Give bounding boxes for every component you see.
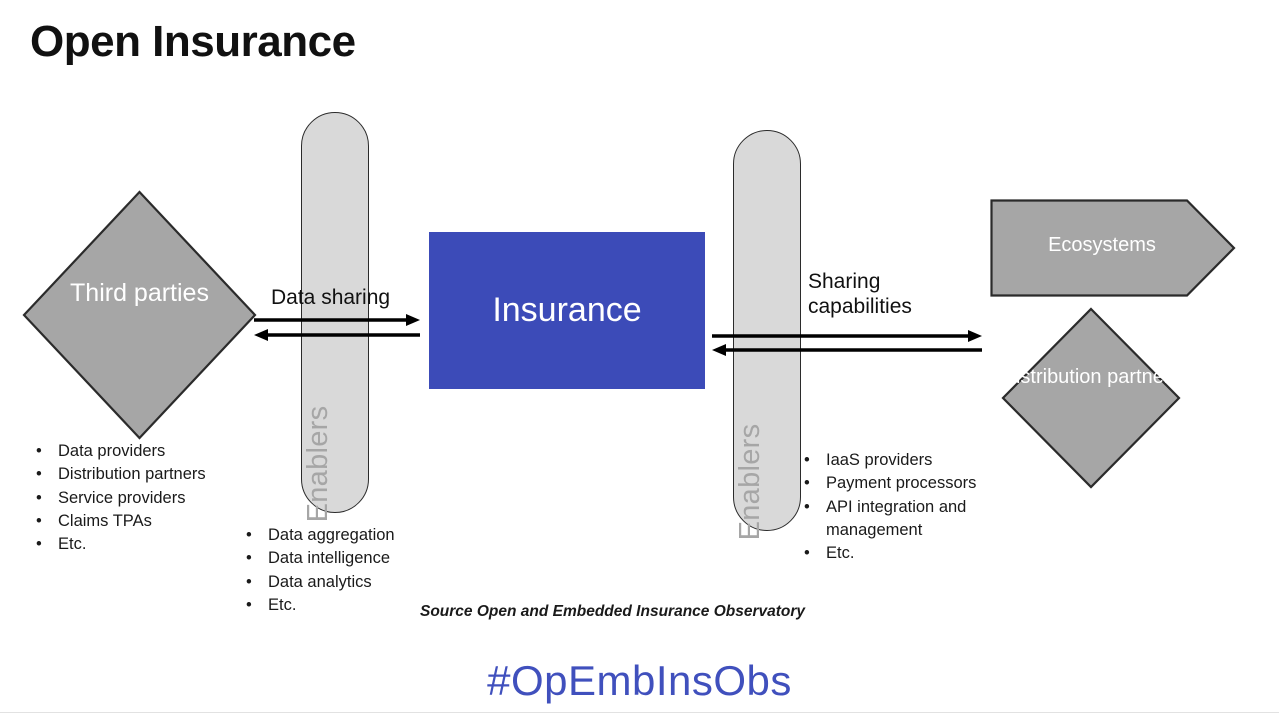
bullet-marker-icon: • <box>30 510 58 533</box>
list-item: • IaaS providers <box>798 449 1013 472</box>
enablers-left-bullet-list: • Data aggregation • Data intelligence •… <box>240 524 450 617</box>
sharing-capabilities-arrows <box>710 329 984 361</box>
list-item-label: Data analytics <box>268 571 450 594</box>
list-item-label: IaaS providers <box>826 449 1013 472</box>
list-item: • Etc. <box>30 533 260 556</box>
bullet-marker-icon: • <box>240 547 268 570</box>
bidirectional-arrow-icon <box>710 329 984 361</box>
bullet-marker-icon: • <box>30 440 58 463</box>
insurance-label: Insurance <box>492 292 641 329</box>
slide-canvas: Open Insurance Third parties Enablers In… <box>0 0 1279 720</box>
list-item: • Payment processors <box>798 472 1013 495</box>
bullet-marker-icon: • <box>240 571 268 594</box>
sharing-capabilities-label: Sharing capabilities <box>808 270 912 320</box>
third-parties-shape[interactable]: Third parties <box>22 190 257 440</box>
pentagon-arrow-icon <box>990 199 1236 297</box>
hashtag-label: #OpEmbInsObs <box>0 657 1279 705</box>
list-item: • Data providers <box>30 440 260 463</box>
third-parties-bullet-list: • Data providers • Distribution partners… <box>30 440 260 556</box>
bullet-marker-icon: • <box>240 594 268 617</box>
bullet-marker-icon: • <box>798 542 826 565</box>
list-item-label: Data intelligence <box>268 547 450 570</box>
insurance-shape[interactable]: Insurance <box>429 232 705 389</box>
list-item-label: Etc. <box>58 533 260 556</box>
enabler-right-label: Enablers <box>734 424 767 541</box>
bottom-divider <box>0 712 1279 713</box>
list-item-label: Payment processors <box>826 472 1013 495</box>
list-item-label: Data providers <box>58 440 260 463</box>
bullet-marker-icon: • <box>30 533 58 556</box>
list-item: • API integration and management <box>798 496 1013 543</box>
diamond-icon <box>22 190 257 440</box>
list-item: • Etc. <box>798 542 1013 565</box>
bullet-marker-icon: • <box>240 524 268 547</box>
bullet-marker-icon: • <box>798 449 826 472</box>
list-item: • Data aggregation <box>240 524 450 547</box>
list-item: • Service providers <box>30 487 260 510</box>
list-item-label: API integration and management <box>826 496 1013 543</box>
list-item-label: Claims TPAs <box>58 510 260 533</box>
bullet-marker-icon: • <box>30 487 58 510</box>
diamond-icon <box>1001 307 1181 489</box>
list-item-label: Distribution partners <box>58 463 260 486</box>
list-item: • Data analytics <box>240 571 450 594</box>
page-title: Open Insurance <box>30 18 356 66</box>
ecosystems-shape[interactable]: Ecosystems <box>990 199 1236 297</box>
data-sharing-label: Data sharing <box>271 286 390 311</box>
bullet-marker-icon: • <box>798 472 826 495</box>
list-item: • Claims TPAs <box>30 510 260 533</box>
bullet-marker-icon: • <box>798 496 826 519</box>
list-item: • Data intelligence <box>240 547 450 570</box>
list-item-label: Service providers <box>58 487 260 510</box>
list-item: • Distribution partners <box>30 463 260 486</box>
distribution-partners-shape[interactable]: Distribution partners <box>1001 307 1181 489</box>
list-item: • Etc. <box>240 594 450 617</box>
list-item-label: Etc. <box>826 542 1013 565</box>
data-sharing-arrows <box>252 312 422 346</box>
bullet-marker-icon: • <box>30 463 58 486</box>
source-note: Source Open and Embedded Insurance Obser… <box>420 603 805 621</box>
bidirectional-arrow-icon <box>252 312 422 346</box>
enabler-left-label: Enablers <box>302 406 335 523</box>
list-item-label: Data aggregation <box>268 524 450 547</box>
enablers-right-bullet-list: • IaaS providers • Payment processors • … <box>798 449 1013 565</box>
